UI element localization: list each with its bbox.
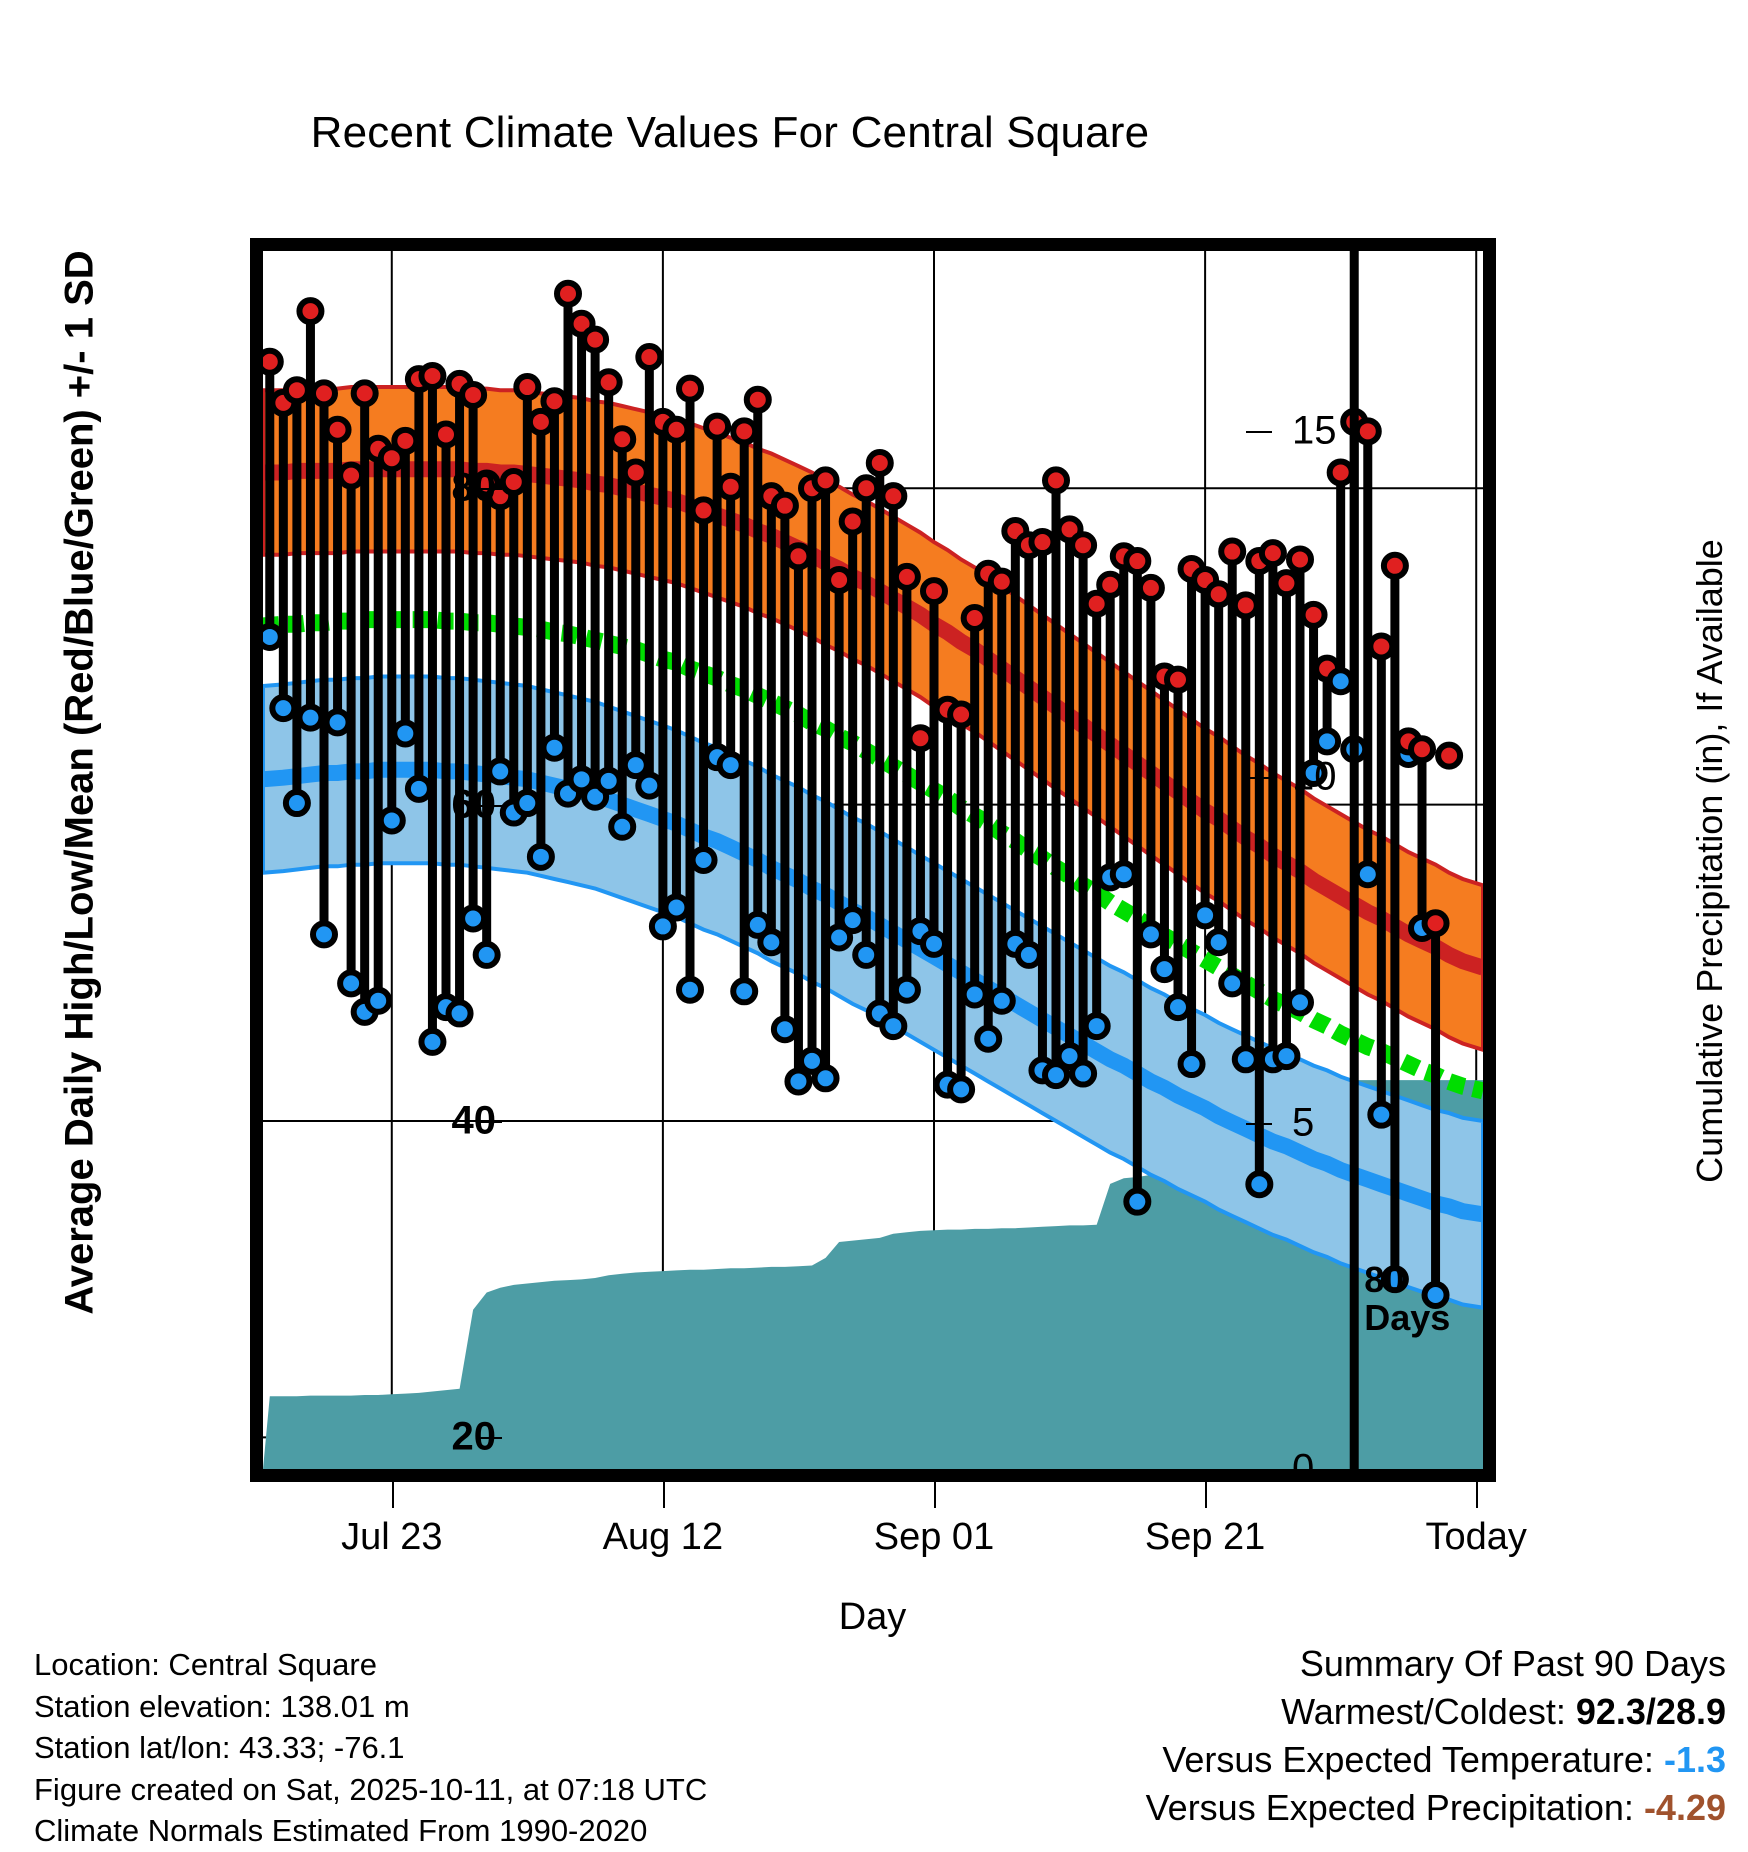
x-axis-tick-mark [663,1482,665,1508]
footer-line: Location: Central Square [34,1644,707,1686]
climate-chart-page: Recent Climate Values For Central Square… [0,0,1748,1828]
y-axis-left-tick-mark [476,1437,502,1439]
y-axis-right-tick-mark [1246,1469,1272,1471]
footer-line: Climate Normals Estimated From 1990-2020 [34,1810,707,1852]
x-axis-tick-mark [934,1482,936,1508]
y-axis-left-tick-label: 80 [296,466,496,511]
x-axis-tick-mark [392,1482,394,1508]
y-axis-right-tick-label: 10 [1292,754,1492,799]
versus-temperature-row: Versus Expected Temperature: -1.3 [1146,1736,1726,1784]
page-title: Recent Climate Values For Central Square [0,108,1460,158]
y-axis-right-tick-label: 15 [1292,408,1492,453]
x-axis-tick-label: Today [1326,1516,1626,1559]
x-axis-tick-mark [1476,1482,1478,1508]
footer-line: Station elevation: 138.01 m [34,1686,707,1728]
summary-panel: Summary Of Past 90 Days Warmest/Coldest:… [1146,1640,1726,1832]
x-axis-label: Day [250,1596,1495,1639]
versus-precipitation-value: -4.29 [1644,1787,1726,1828]
warmest-coldest-label: Warmest/Coldest: [1281,1691,1566,1732]
y-axis-right-tick-mark [1246,1123,1272,1125]
y-axis-right-tick-label: 0 [1292,1447,1492,1492]
y-axis-left-tick-mark [476,488,502,490]
y-axis-right-label: Cumulative Precipitation (in), If Availa… [1689,301,1731,1421]
warmest-coldest-value: 92.3/28.9 [1576,1691,1726,1732]
footer-line: Station lat/lon: 43.33; -76.1 [34,1727,707,1769]
x-axis-tick-label: Sep 01 [784,1516,1084,1559]
x-axis-tick-label: Jul 23 [242,1516,542,1559]
days-count: 80 [1364,1261,1450,1299]
warmest-coldest-row: Warmest/Coldest: 92.3/28.9 [1146,1688,1726,1736]
versus-precipitation-row: Versus Expected Precipitation: -4.29 [1146,1784,1726,1832]
x-axis-tick-label: Sep 21 [1055,1516,1355,1559]
summary-heading: Summary Of Past 90 Days [1146,1640,1726,1688]
y-axis-left-tick-mark [476,1121,502,1123]
footer-info: Location: Central SquareStation elevatio… [34,1644,707,1852]
versus-precipitation-label: Versus Expected Precipitation: [1146,1787,1634,1828]
y-axis-right-tick-mark [1246,431,1272,433]
versus-temperature-value: -1.3 [1664,1739,1726,1780]
y-axis-left-tick-label: 60 [296,782,496,827]
x-axis-tick-label: Aug 12 [513,1516,813,1559]
days-word: Days [1364,1299,1450,1337]
x-axis-tick-mark [1205,1482,1207,1508]
y-axis-right-tick-label: 5 [1292,1100,1492,1145]
y-axis-left-tick-mark [476,805,502,807]
y-axis-left-tick-label: 40 [296,1099,496,1144]
footer-line: Figure created on Sat, 2025-10-11, at 07… [34,1769,707,1811]
y-axis-left-tick-label: 20 [296,1415,496,1460]
days-annotation: 80 Days [1364,1261,1450,1337]
y-axis-left-label: Average Daily High/Low/Mean (Red/Blue/Gr… [58,223,103,1343]
versus-temperature-label: Versus Expected Temperature: [1162,1739,1654,1780]
y-axis-right-tick-mark [1246,777,1272,779]
